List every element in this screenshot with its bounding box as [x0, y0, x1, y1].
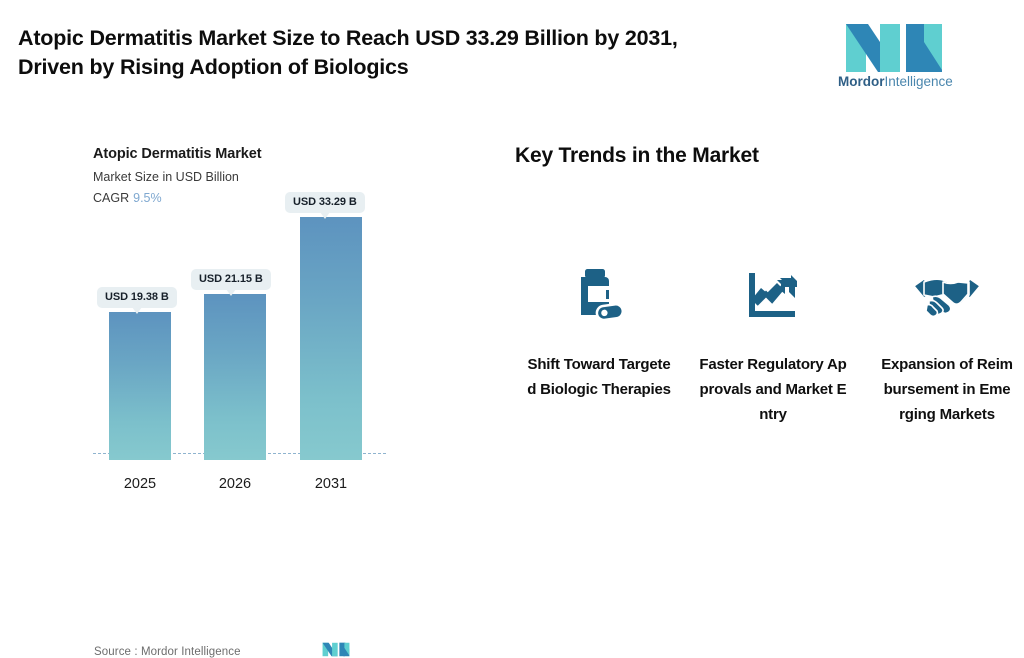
chart-title: Atopic Dermatitis Market — [93, 146, 261, 162]
x-axis-label-2025: 2025 — [109, 476, 171, 492]
logo-word-intelligence: Intelligence — [885, 74, 953, 89]
chart-source-label: Source : — [94, 646, 138, 658]
chart-source: Source : Mordor Intelligence — [94, 646, 241, 658]
cagr-label: CAGR — [93, 191, 129, 205]
trend-card-reimbursement-expansion: Expansion of Reimbursement in Emerging M… — [872, 262, 1022, 427]
bar-chart-plot-area: USD 19.38 B USD 21.15 B USD 33.29 B 2025… — [93, 212, 393, 512]
handshake-icon — [872, 262, 1022, 330]
bar-2031[interactable] — [300, 217, 362, 460]
chart-source-value: Mordor Intelligence — [141, 646, 241, 658]
bar-value-label-2031: USD 33.29 B — [285, 192, 365, 213]
chart-subtitle: Market Size in USD Billion — [93, 170, 239, 184]
bar-2025[interactable] — [109, 312, 171, 460]
logo-word-mordor: Mordor — [838, 74, 885, 89]
bar-value-label-2026: USD 21.15 B — [191, 269, 271, 290]
trend-label-1: Shift Toward Targeted Biologic Therapies — [524, 352, 674, 402]
page-header: Atopic Dermatitis Market Size to Reach U… — [0, 0, 1024, 112]
key-trends-panel: Key Trends in the Market — [500, 112, 1024, 573]
mordor-logo-mark — [844, 24, 944, 72]
page-title: Atopic Dermatitis Market Size to Reach U… — [18, 24, 818, 82]
x-axis-label-2026: 2026 — [204, 476, 266, 492]
bar-2026[interactable] — [204, 294, 266, 460]
mordor-logo-wordmark: MordorIntelligence — [838, 74, 950, 90]
medicine-bottle-icon — [524, 262, 674, 330]
growth-chart-icon — [698, 262, 848, 330]
trend-card-regulatory-approvals: Faster Regulatory Approvals and Market E… — [698, 262, 848, 427]
mordor-logo-mark-small — [322, 641, 350, 658]
market-size-chart-panel: Atopic Dermatitis Market Market Size in … — [0, 112, 500, 573]
trend-label-3: Expansion of Reimbursement in Emerging M… — [881, 352, 1013, 427]
trend-label-2: Faster Regulatory Approvals and Market E… — [698, 352, 848, 427]
cagr-value: 9.5% — [133, 191, 162, 205]
key-trends-title: Key Trends in the Market — [515, 144, 759, 168]
x-axis-label-2031: 2031 — [300, 476, 362, 492]
trend-card-biologic-therapies: Shift Toward Targeted Biologic Therapies — [524, 262, 674, 427]
key-trends-list: Shift Toward Targeted Biologic Therapies… — [500, 262, 1024, 427]
bar-value-label-2025: USD 19.38 B — [97, 287, 177, 308]
chart-cagr: CAGR9.5% — [93, 191, 162, 205]
mordor-intelligence-logo: MordorIntelligence — [838, 24, 950, 96]
